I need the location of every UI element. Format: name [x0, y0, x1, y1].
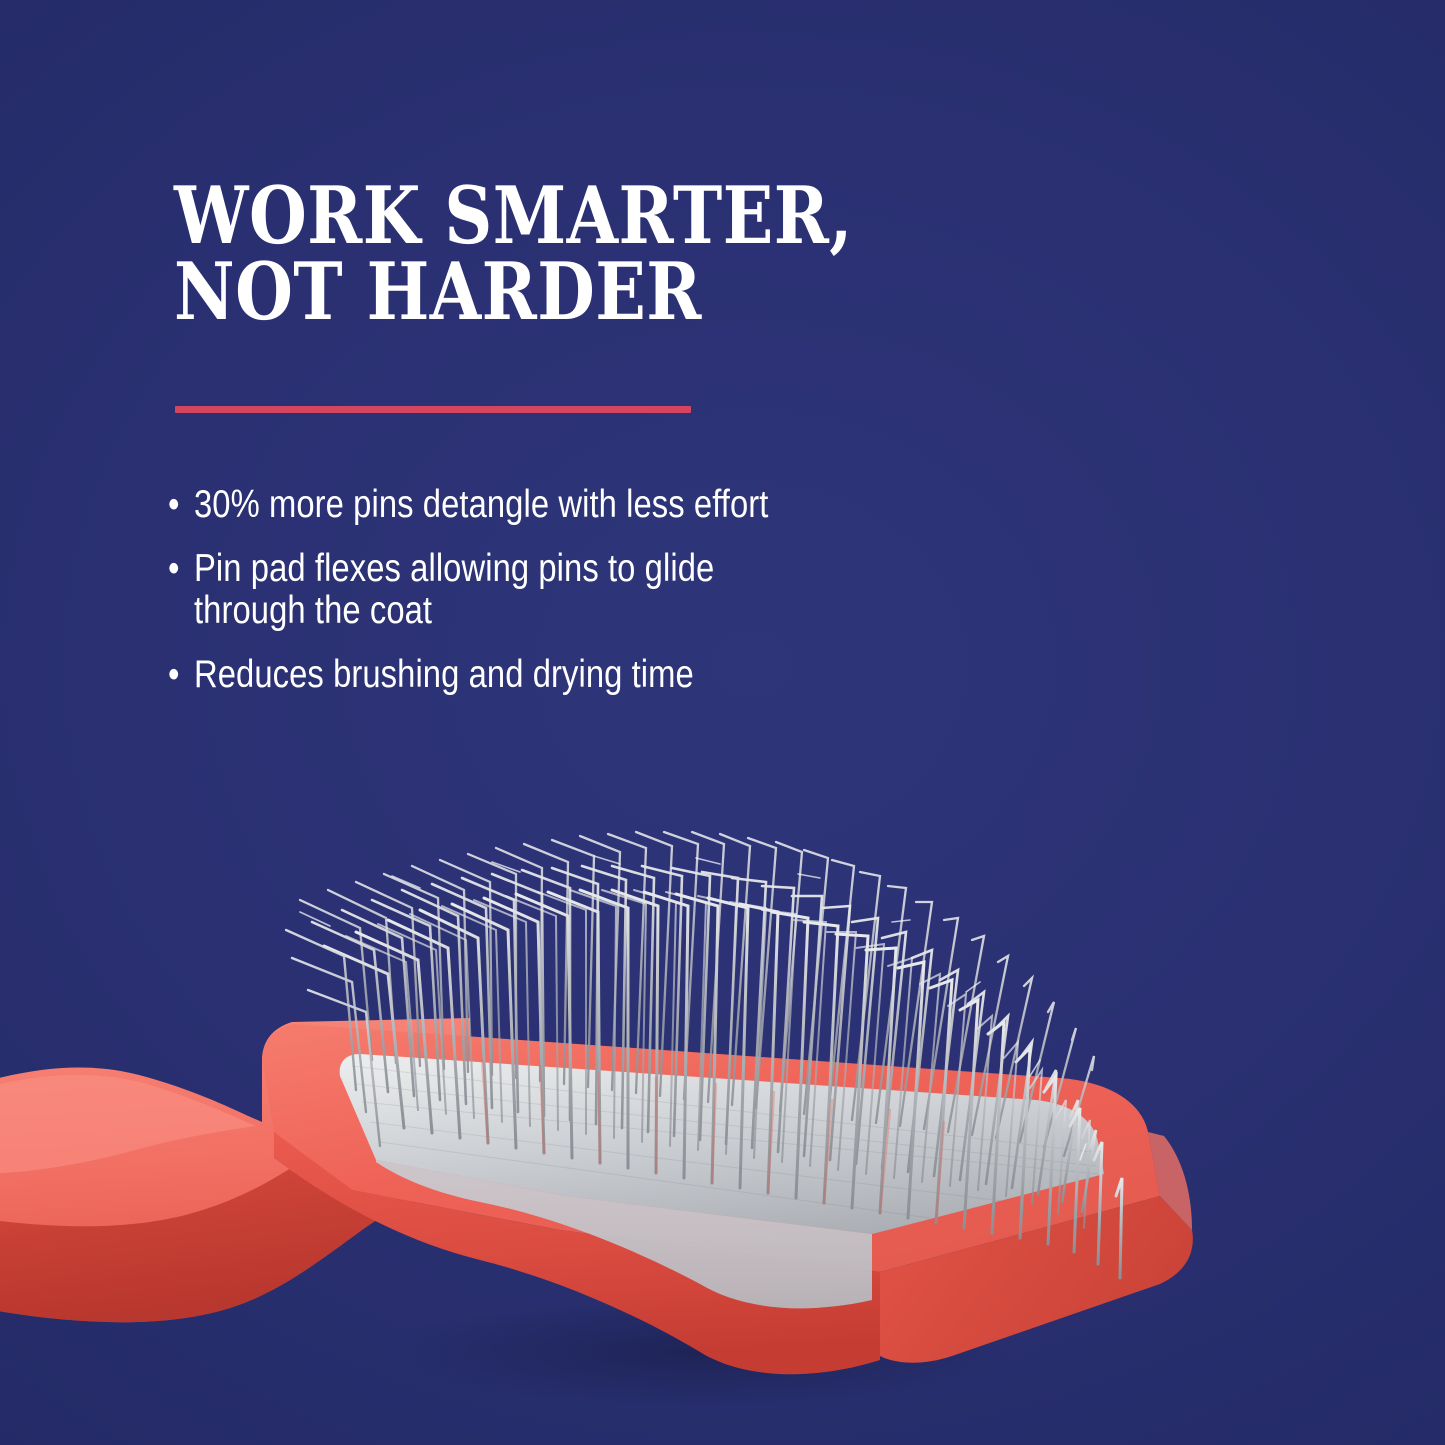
list-item: • 30% more pins detangle with less effor… [168, 484, 1068, 526]
accent-divider [175, 406, 691, 413]
bullet-icon: • [168, 654, 190, 696]
page-title: Work Smarter, Not Harder [174, 178, 997, 330]
list-item-label: Reduces brushing and drying time [194, 654, 928, 696]
feature-list: • 30% more pins detangle with less effor… [168, 484, 1068, 718]
list-item-label: 30% more pins detangle with less effort [194, 484, 928, 526]
product-image [0, 760, 1445, 1445]
list-item-label: Pin pad flexes allowing pins to glide th… [194, 548, 928, 632]
list-item: • Pin pad flexes allowing pins to glide … [168, 548, 1068, 632]
bullet-icon: • [168, 484, 190, 526]
bullet-icon: • [168, 548, 190, 590]
list-item: • Reduces brushing and drying time [168, 654, 1068, 696]
marketing-banner: Work Smarter, Not Harder • 30% more pins… [0, 0, 1445, 1445]
